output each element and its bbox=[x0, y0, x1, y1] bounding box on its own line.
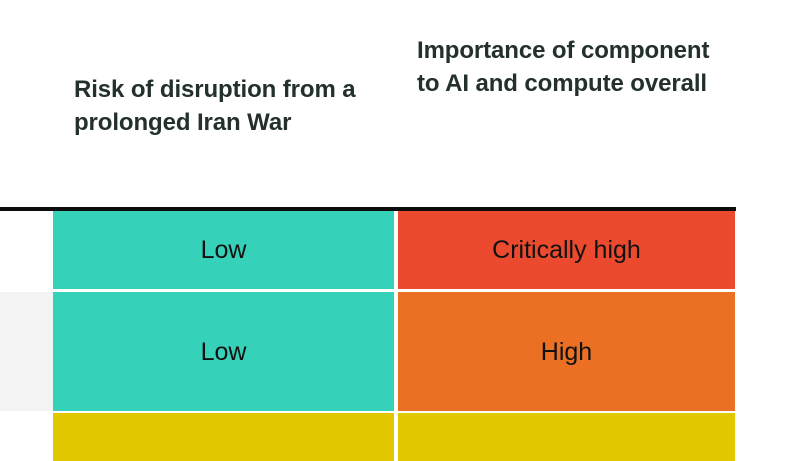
table-body: Low Critically high Low High bbox=[0, 211, 800, 450]
row-label-cell bbox=[0, 413, 53, 461]
cell-importance: Critically high bbox=[398, 211, 735, 289]
row-tail-space bbox=[735, 211, 800, 289]
table-header-area: Risk of disruption from a prolonged Iran… bbox=[0, 0, 800, 208]
cell-risk: Low bbox=[53, 292, 394, 411]
table-row bbox=[0, 413, 800, 461]
column-header-risk: Risk of disruption from a prolonged Iran… bbox=[74, 73, 384, 139]
cell-importance: High bbox=[398, 292, 735, 411]
row-tail-space bbox=[735, 413, 800, 461]
table-row: Low High bbox=[0, 292, 800, 411]
cell-risk: Low bbox=[53, 211, 394, 289]
row-label-cell bbox=[0, 292, 53, 411]
cell-importance bbox=[398, 413, 735, 461]
table-row: Low Critically high bbox=[0, 211, 800, 289]
cell-risk bbox=[53, 413, 394, 461]
table-screenshot: Risk of disruption from a prolonged Iran… bbox=[0, 0, 800, 450]
row-label-cell bbox=[0, 211, 53, 289]
column-header-importance: Importance of component to AI and comput… bbox=[417, 34, 717, 100]
row-tail-space bbox=[735, 292, 800, 411]
